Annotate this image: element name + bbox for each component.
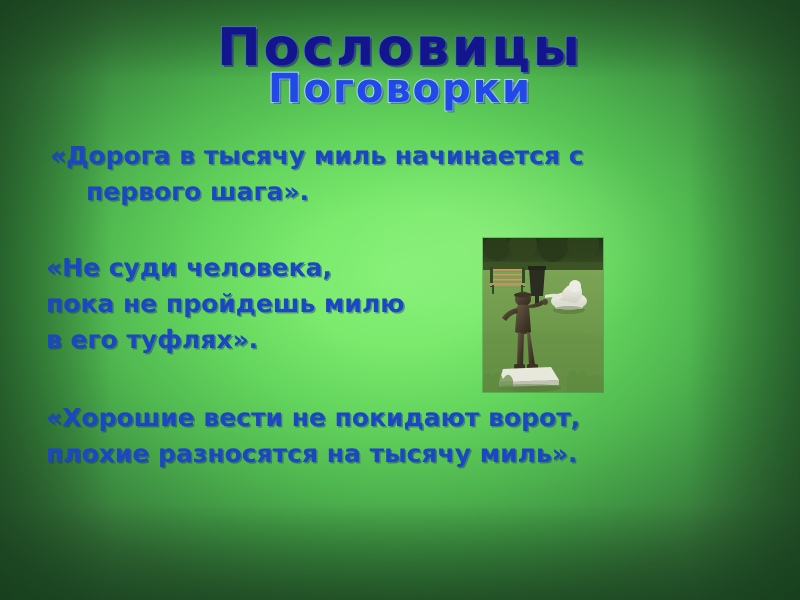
page-subtitle: Поговорки — [0, 66, 800, 112]
proverb-item: «Хорошие вести не покидают ворот, плохие… — [46, 400, 646, 472]
park-statue-image — [483, 238, 603, 392]
park-statue-photo — [483, 238, 603, 392]
proverb-line: первого шага». — [50, 174, 646, 210]
proverb-line: плохие разносятся на тысячу миль». — [46, 436, 646, 472]
proverb-line: «Хорошие вести не покидают ворот, — [46, 400, 646, 436]
title-group: Пословицы Поговорки — [0, 0, 800, 125]
proverb-line: «Дорога в тысячу миль начинается с — [50, 141, 584, 170]
proverb-item: «Дорога в тысячу миль начинается с перво… — [46, 138, 646, 210]
slide-canvas: Пословицы Поговорки «Дорога в тысячу мил… — [0, 0, 800, 600]
